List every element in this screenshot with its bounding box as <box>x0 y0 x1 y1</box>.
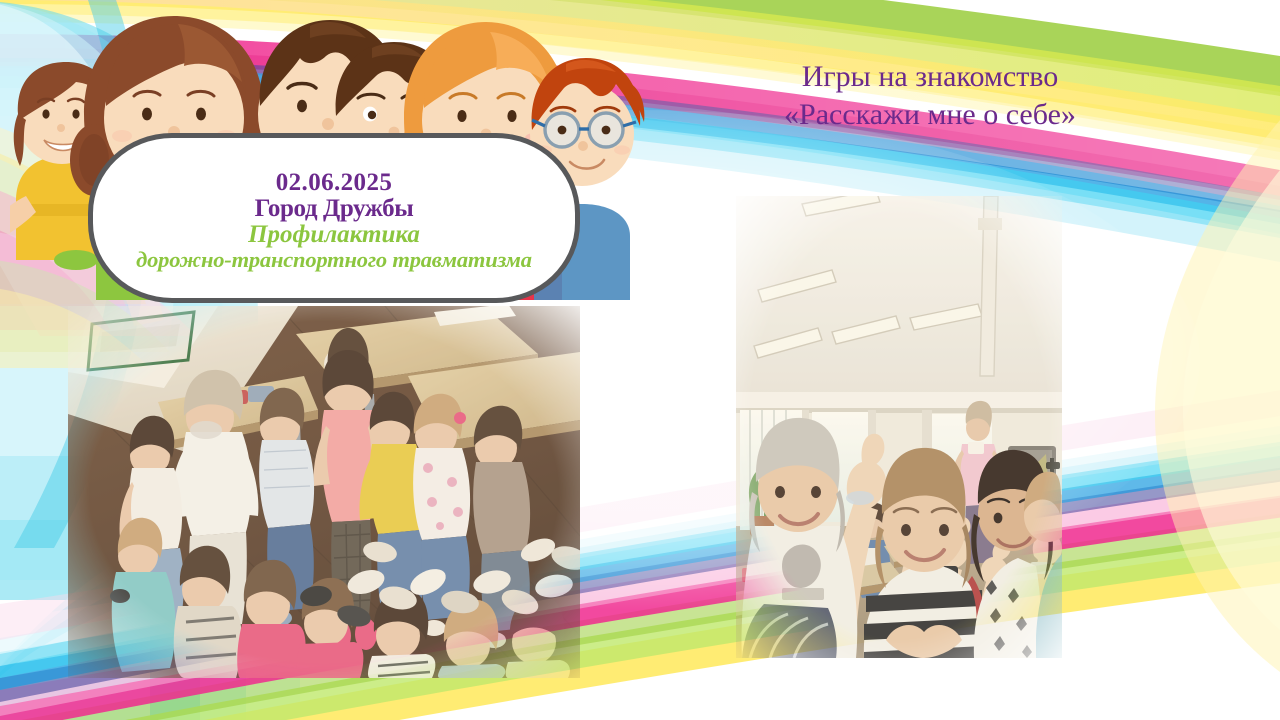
classroom-shoes-activity-photo <box>68 306 580 678</box>
classroom-thumbs-up-photo <box>736 196 1062 658</box>
event-topic-line-1: Профилактика <box>248 222 420 249</box>
slide-canvas: Игры на знакомство «Расскажи мне о себе»… <box>0 0 1280 720</box>
slide-title-line-2: «Расскажи мне о себе» <box>660 96 1200 134</box>
info-bubble-content: 02.06.2025 Город Дружбы Профилактика дор… <box>88 133 580 303</box>
event-date: 02.06.2025 <box>276 170 393 196</box>
slide-title-line-1: Игры на знакомство <box>660 58 1200 96</box>
event-place: Город Дружбы <box>255 196 414 222</box>
event-topic-line-2: дорожно-транспортного травматизма <box>136 248 532 272</box>
slide-title: Игры на знакомство «Расскажи мне о себе» <box>660 58 1200 134</box>
